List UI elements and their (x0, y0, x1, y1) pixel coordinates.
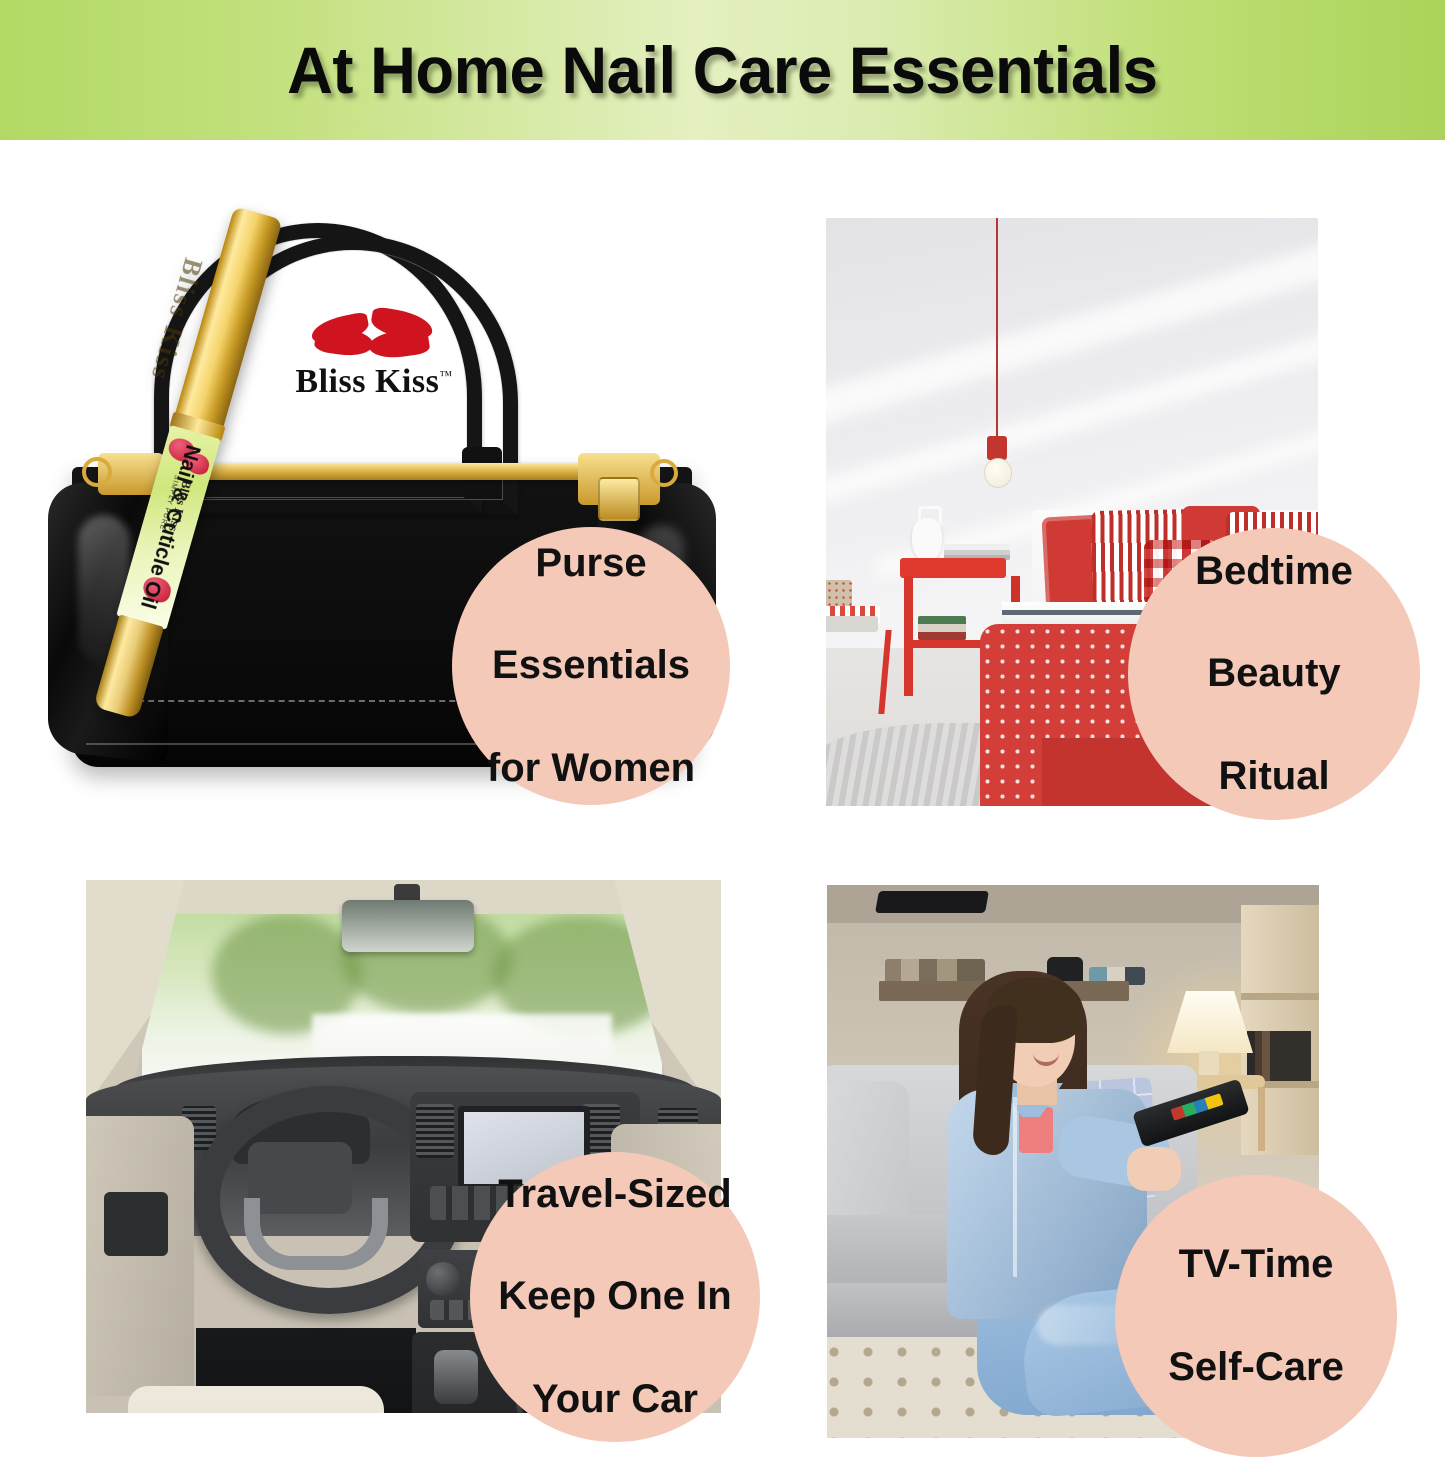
brand-name-text: Bliss Kiss (295, 363, 439, 400)
badge-bedtime-ritual: Bedtime Beauty Ritual (1128, 528, 1420, 820)
climate-knob-left[interactable] (426, 1262, 460, 1296)
badge-tv-label: TV-Time Self-Care (1148, 1239, 1364, 1393)
purse-gold-frame-bar (178, 463, 608, 480)
light-bulb-icon (984, 458, 1012, 488)
header-banner: At Home Nail Care Essentials (0, 0, 1445, 140)
red-lips-icon (309, 303, 439, 359)
window-switch-panel[interactable] (104, 1192, 168, 1256)
badge-travel-label: Travel-Sized Keep One In Your Car (478, 1169, 751, 1425)
badge-purse-label: Purse Essentials for Women (467, 538, 715, 794)
ceiling-tv-mount (875, 891, 989, 913)
pendant-cord (996, 218, 998, 440)
red-nightstand-top (900, 558, 1006, 578)
pendant-socket (987, 436, 1007, 460)
purse-d-ring-right (650, 459, 678, 487)
sunlight-streak (826, 223, 1318, 427)
rearview-mirror (342, 900, 474, 952)
side-stool-legs (826, 630, 892, 714)
woman-shirt-placket (1013, 1097, 1017, 1277)
driver-seat (128, 1386, 384, 1413)
badge-tv-time: TV-Time Self-Care (1115, 1175, 1397, 1457)
bookcase-shelf (1241, 993, 1319, 1000)
nightstand-shelf-books (918, 616, 966, 640)
page-title: At Home Nail Care Essentials (287, 32, 1157, 108)
deer-vase (912, 518, 942, 562)
gear-shifter[interactable] (434, 1350, 478, 1404)
pen-cap-text: Bliss Kiss (122, 208, 230, 431)
door-panel-left (86, 1116, 194, 1396)
badge-purse-essentials: Purse Essentials for Women (452, 527, 730, 805)
infographic-page: At Home Nail Care Essentials (0, 0, 1445, 1445)
purse-lock-icon (598, 477, 640, 521)
badge-bedtime-label: Bedtime Beauty Ritual (1175, 546, 1373, 802)
shelf-jars (885, 959, 985, 983)
woman-hand (1127, 1147, 1181, 1191)
woman-eye (1055, 1027, 1067, 1031)
badge-travel-sized: Travel-Sized Keep One In Your Car (470, 1152, 760, 1442)
brand-trademark: ™ (439, 368, 452, 383)
bookcase-books (1247, 1031, 1311, 1081)
steering-wheel-spoke (244, 1198, 388, 1270)
air-vent (416, 1104, 454, 1158)
woman-eye (1031, 1029, 1043, 1033)
brand-logo: Bliss Kiss™ (274, 303, 474, 401)
brand-name: Bliss Kiss™ (274, 363, 474, 401)
purse-d-ring-left (82, 457, 112, 487)
